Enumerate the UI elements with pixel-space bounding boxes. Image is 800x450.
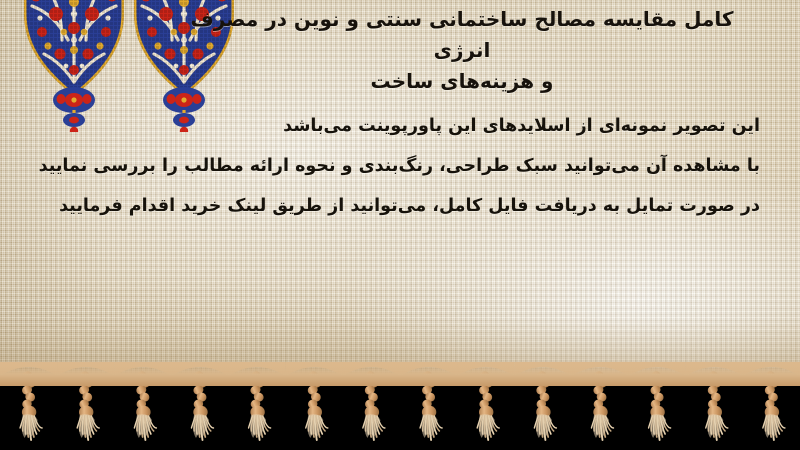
slide-body-line-3: در صورت تمایل به دریافت فایل کامل، می‌تو… (40, 186, 760, 226)
slide-body-line-2: با مشاهده آن می‌توانید سبک طراحی، رنگ‌بن… (40, 146, 760, 186)
slide-body: این تصویر نمونه‌ای از اسلایدهای این پاور… (40, 106, 760, 226)
slide-body-line-1: این تصویر نمونه‌ای از اسلایدهای این پاور… (40, 106, 760, 146)
carpet-fringe-tassels (0, 360, 800, 450)
slide-title-line-2: و هزینه‌های ساخت (162, 66, 762, 97)
slide-canvas: کامل مقایسه مصالح ساختمانی سنتی و نوین د… (0, 0, 800, 450)
slide-title: کامل مقایسه مصالح ساختمانی سنتی و نوین د… (162, 4, 762, 97)
fringe-edge-band (0, 360, 800, 386)
slide-title-line-1: کامل مقایسه مصالح ساختمانی سنتی و نوین د… (162, 4, 762, 66)
